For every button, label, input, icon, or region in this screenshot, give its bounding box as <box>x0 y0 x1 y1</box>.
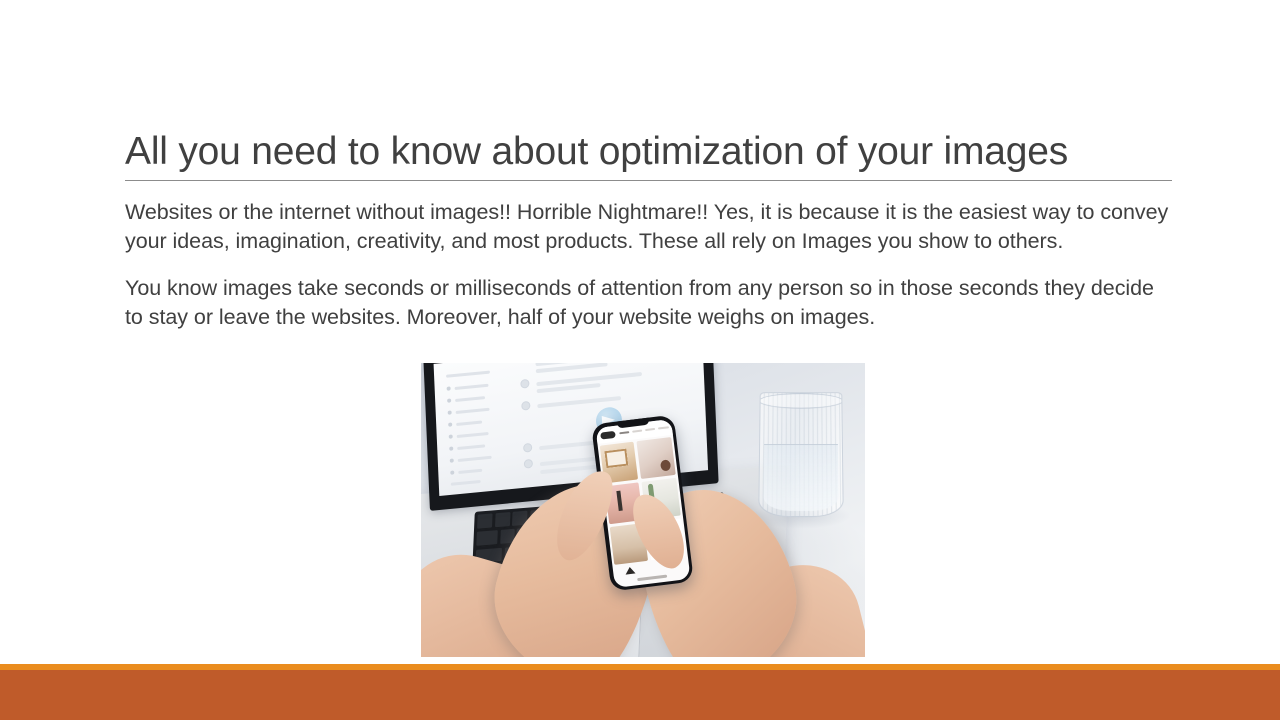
home-icon <box>624 566 635 574</box>
footer-band <box>0 670 1280 720</box>
slide-photo <box>421 363 865 657</box>
home-indicator <box>637 575 667 581</box>
grid-item <box>636 437 675 479</box>
body-paragraph-2: You know images take seconds or millisec… <box>125 274 1175 332</box>
app-logo <box>600 430 616 439</box>
body-content: Websites or the internet without images!… <box>125 198 1175 332</box>
water-glass <box>758 392 844 517</box>
page-title: All you need to know about optimization … <box>125 128 1173 176</box>
chat-sidebar <box>446 367 495 489</box>
photo-scene <box>421 363 865 657</box>
glass-water <box>763 444 838 511</box>
glass-rim <box>759 393 843 408</box>
slide: All you need to know about optimization … <box>0 0 1280 720</box>
body-paragraph-1: Websites or the internet without images!… <box>125 198 1175 256</box>
title-divider <box>125 180 1172 181</box>
